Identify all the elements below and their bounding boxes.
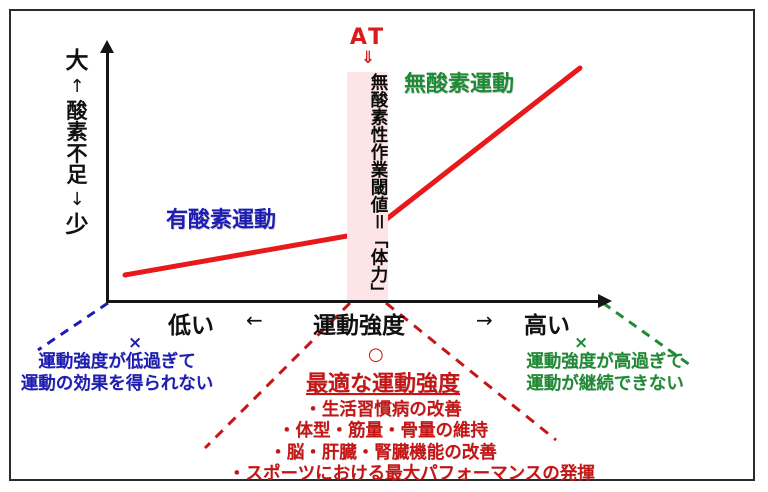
x-axis-arrow-icon bbox=[598, 294, 612, 308]
note-center-bullet-2: ・体型・筋量・骨量の維持 bbox=[228, 421, 538, 442]
x-axis-line bbox=[106, 300, 602, 303]
note-right: 運動強度が高過ぎて 運動が継続できない bbox=[494, 352, 716, 396]
diagram-canvas: 無酸素性作業閾値＝「体力」 AT ⇓ 大 ↑ 酸素不足 ↓ 少 有酸素運動 無酸… bbox=[0, 0, 768, 492]
y-axis-label-group: 大 ↑ 酸素不足 ↓ 少 bbox=[57, 50, 97, 237]
note-center-bullet-3: ・脳・肝臓・腎臓機能の改善 bbox=[228, 443, 538, 464]
cross-mark-left-icon: × bbox=[128, 333, 142, 353]
x-axis-high-label: 高い bbox=[524, 306, 570, 340]
note-left: 運動強度が低過ぎて 運動の効果を得られない bbox=[12, 352, 222, 396]
y-axis-title: 酸素不足 bbox=[57, 101, 97, 187]
down-arrow-icon: ⇓ bbox=[330, 48, 406, 68]
up-arrow-icon: ↑ bbox=[57, 78, 97, 96]
anaerobic-zone-label: 無酸素運動 bbox=[404, 66, 514, 98]
note-center-bullet-1: ・生活習慣病の改善 bbox=[228, 400, 538, 421]
note-left-line2: 運動の効果を得られない bbox=[21, 374, 214, 394]
y-axis-bottom-label: 少 bbox=[66, 212, 89, 238]
x-axis-title: 運動強度 bbox=[313, 306, 405, 340]
note-center-heading: 最適な運動強度 bbox=[228, 366, 538, 398]
note-right-line2: 運動が継続できない bbox=[526, 374, 684, 394]
x-axis-low-label: 低い bbox=[168, 306, 214, 340]
right-arrow-icon: → bbox=[476, 308, 493, 332]
note-center-bullet-4: ・スポーツにおける最大パフォーマンスの発揮 bbox=[228, 464, 538, 485]
aerobic-zone-label: 有酸素運動 bbox=[166, 202, 276, 234]
note-center: 最適な運動強度 ・生活習慣病の改善 ・体型・筋量・骨量の維持 ・脳・肝臓・腎臓機… bbox=[228, 366, 538, 485]
y-axis-arrow-icon bbox=[100, 40, 114, 53]
y-axis-top-label: 大 bbox=[66, 48, 89, 74]
at-threshold-label: 無酸素性作業閾値＝「体力」 bbox=[349, 74, 386, 300]
note-left-line1: 運動強度が低過ぎて bbox=[38, 352, 196, 372]
dashed-line-left-blue bbox=[38, 303, 108, 350]
note-right-line1: 運動強度が高過ぎて bbox=[526, 352, 684, 372]
down-arrow-icon-yaxis: ↓ bbox=[57, 191, 97, 209]
y-axis-line bbox=[106, 48, 109, 302]
at-title: AT bbox=[330, 25, 406, 50]
cross-mark-right-icon: × bbox=[574, 333, 588, 353]
circle-mark-center-icon: ○ bbox=[368, 344, 384, 365]
left-arrow-icon: ← bbox=[246, 308, 263, 332]
